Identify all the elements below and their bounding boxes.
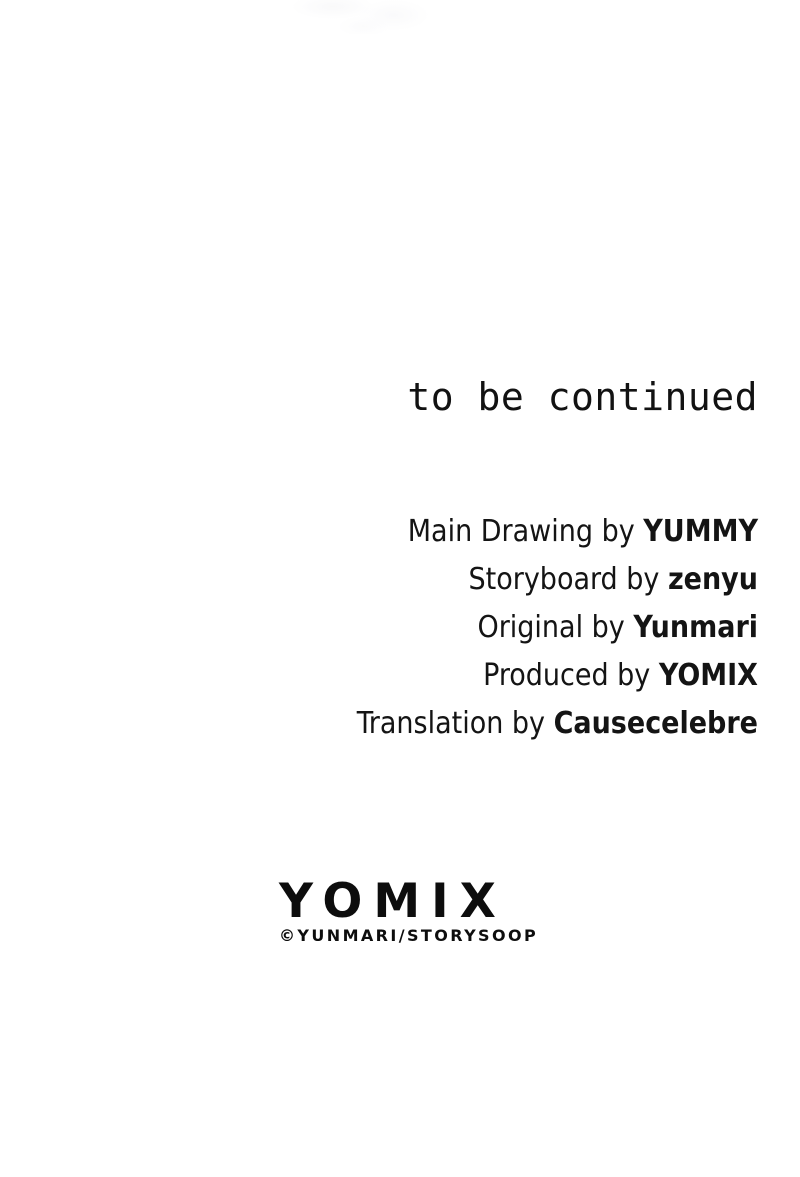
comic-end-card-page: to be continued Main Drawing by YUMMY St… bbox=[0, 0, 800, 1177]
publisher-logo-block: YOMIX ©YUNMARI/STORYSOOP bbox=[279, 878, 529, 945]
credit-role-label: Translation by bbox=[357, 706, 554, 741]
credit-line: Original by Yunmari bbox=[0, 604, 758, 652]
credit-line: Main Drawing by YUMMY bbox=[0, 508, 758, 556]
to-be-continued-text: to be continued bbox=[0, 378, 758, 416]
credit-name-value: zenyu bbox=[668, 562, 758, 597]
credit-line: Storyboard by zenyu bbox=[0, 556, 758, 604]
credit-line: Translation by Causecelebre bbox=[0, 700, 758, 748]
copyright-notice: ©YUNMARI/STORYSOOP bbox=[279, 927, 529, 945]
credit-name-value: Causecelebre bbox=[554, 706, 758, 741]
credit-role-label: Storyboard by bbox=[469, 562, 668, 597]
credit-role-label: Main Drawing by bbox=[408, 514, 644, 549]
credit-name-value: Yunmari bbox=[633, 610, 758, 645]
residual-artwork-smudge bbox=[276, 0, 466, 34]
credit-name-value: YOMIX bbox=[659, 658, 758, 693]
credit-role-label: Original by bbox=[477, 610, 633, 645]
credit-line: Produced by YOMIX bbox=[0, 652, 758, 700]
yomix-wordmark: YOMIX bbox=[279, 878, 529, 926]
credit-role-label: Produced by bbox=[483, 658, 659, 693]
credits-list: Main Drawing by YUMMY Storyboard by zeny… bbox=[0, 508, 758, 748]
credit-name-value: YUMMY bbox=[643, 514, 758, 549]
